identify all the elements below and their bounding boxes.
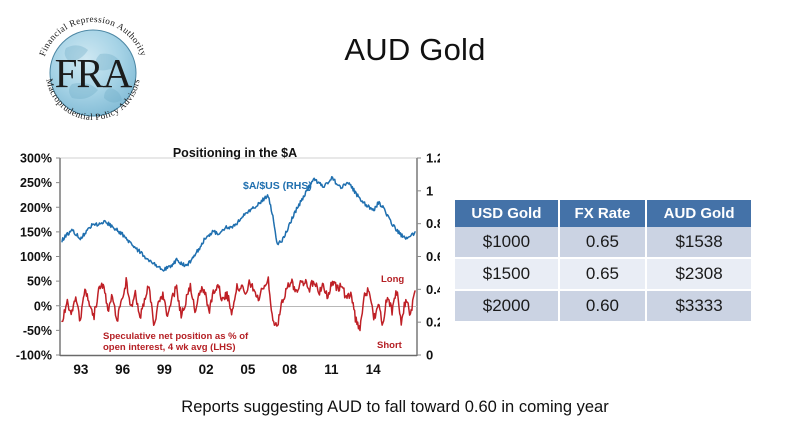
table-header-row: USD Gold FX Rate AUD Gold (455, 200, 751, 227)
svg-text:02: 02 (199, 362, 214, 377)
positioning-chart: -100%-50%0%50%100%150%200%250%300% 00.20… (0, 145, 440, 385)
svg-text:1: 1 (426, 183, 433, 198)
svg-text:99: 99 (157, 362, 172, 377)
svg-text:300%: 300% (20, 152, 52, 166)
x-axis-ticks: 9396990205081114 (73, 362, 381, 377)
svg-text:11: 11 (324, 362, 339, 377)
slide-caption: Reports suggesting AUD to fall toward 0.… (0, 398, 790, 417)
table-row: $1000 0.65 $1538 (455, 227, 751, 258)
svg-text:0.8: 0.8 (426, 216, 440, 231)
red-series-note-line2: open interest, 4 wk avg (LHS) (103, 342, 236, 353)
gold-fx-table: USD Gold FX Rate AUD Gold $1000 0.65 $15… (455, 200, 751, 323)
fra-logo: Financial Repression Authority Macroprud… (28, 10, 158, 128)
logo-monogram: FRA (55, 50, 133, 96)
long-label: Long (381, 274, 404, 285)
svg-text:05: 05 (240, 362, 256, 377)
plot-background (60, 158, 417, 355)
svg-text:1.2: 1.2 (426, 151, 440, 166)
column-header-fx-rate: FX Rate (559, 200, 646, 227)
svg-text:93: 93 (73, 362, 89, 377)
cell-aud-gold: $3333 (646, 290, 751, 322)
table-row: $2000 0.60 $3333 (455, 290, 751, 322)
svg-text:0.6: 0.6 (426, 249, 440, 264)
svg-text:150%: 150% (20, 225, 52, 239)
cell-usd-gold: $1000 (455, 227, 559, 258)
cell-fx-rate: 0.65 (559, 227, 646, 258)
column-header-aud-gold: AUD Gold (646, 200, 751, 227)
table-row: $1500 0.65 $2308 (455, 258, 751, 290)
blue-series-label: $A/$US (RHS) (243, 180, 312, 192)
page-title: AUD Gold (250, 32, 580, 68)
svg-text:96: 96 (115, 362, 131, 377)
chart-title: Positioning in the $A (173, 146, 297, 160)
svg-text:0.4: 0.4 (426, 282, 440, 297)
svg-text:100%: 100% (20, 250, 52, 264)
cell-fx-rate: 0.60 (559, 290, 646, 322)
svg-text:-100%: -100% (16, 349, 52, 363)
red-series-note-line1: Speculative net position as % of (103, 331, 249, 342)
svg-text:-50%: -50% (23, 324, 52, 338)
right-axis-ticks: 00.20.40.60.811.2 (417, 151, 440, 363)
left-axis-ticks: -100%-50%0%50%100%150%200%250%300% (16, 152, 60, 363)
column-header-usd-gold: USD Gold (455, 200, 559, 227)
cell-usd-gold: $1500 (455, 258, 559, 290)
svg-text:50%: 50% (27, 275, 52, 289)
svg-text:250%: 250% (20, 176, 52, 190)
svg-text:0.2: 0.2 (426, 315, 440, 330)
svg-text:0: 0 (426, 348, 433, 363)
cell-aud-gold: $1538 (646, 227, 751, 258)
svg-text:08: 08 (282, 362, 298, 377)
cell-fx-rate: 0.65 (559, 258, 646, 290)
cell-aud-gold: $2308 (646, 258, 751, 290)
svg-text:14: 14 (366, 362, 382, 377)
cell-usd-gold: $2000 (455, 290, 559, 322)
svg-text:0%: 0% (34, 299, 52, 313)
short-label: Short (377, 340, 403, 351)
svg-text:200%: 200% (20, 201, 52, 215)
